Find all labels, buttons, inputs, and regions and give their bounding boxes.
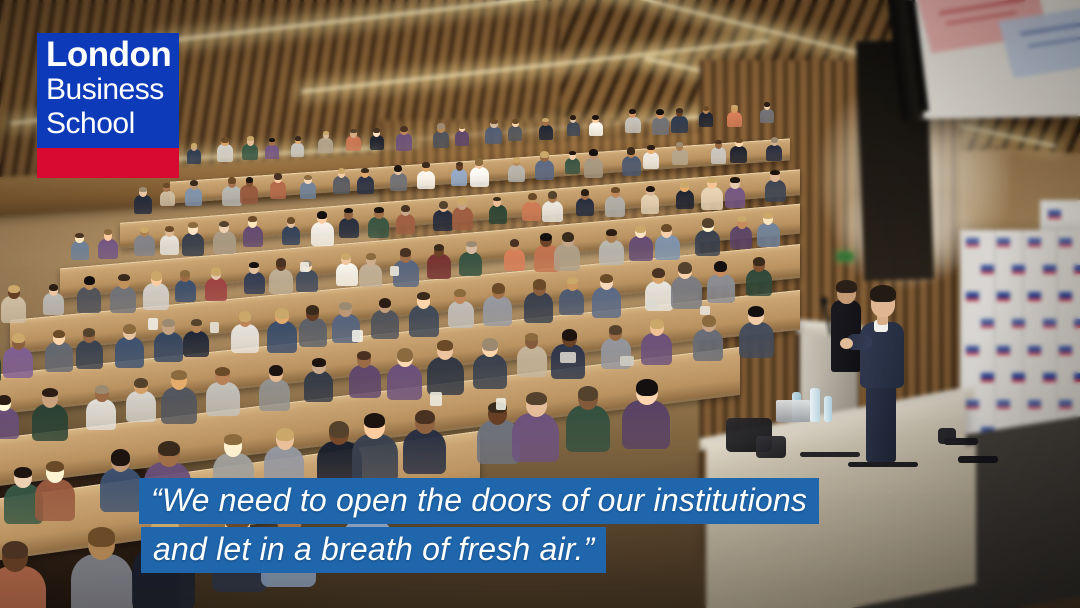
av-equipment bbox=[756, 436, 786, 458]
water-bottle bbox=[824, 396, 832, 422]
logo-blue-panel: London Business School bbox=[37, 33, 179, 148]
logo-line-business: Business bbox=[46, 73, 164, 107]
tripod-leg bbox=[958, 456, 998, 463]
desk-item bbox=[300, 262, 309, 272]
cable bbox=[800, 452, 860, 457]
desk-item bbox=[390, 266, 399, 276]
desk-item bbox=[646, 300, 658, 310]
london-business-school-logo: London Business School bbox=[37, 33, 179, 178]
logo-red-bar bbox=[37, 148, 179, 178]
water-bottle bbox=[810, 388, 820, 422]
logo-line-school: School bbox=[46, 107, 135, 141]
quote-row-2: and let in a breath of fresh air.” bbox=[0, 527, 1080, 573]
desk-item bbox=[148, 318, 158, 330]
desk-item bbox=[620, 356, 634, 366]
desk-item bbox=[352, 330, 363, 342]
desk-item bbox=[210, 322, 219, 333]
cable bbox=[848, 462, 918, 467]
video-frame: London Business School “We need to open … bbox=[0, 0, 1080, 608]
laptop bbox=[776, 400, 810, 422]
quote-line-2: and let in a breath of fresh air.” bbox=[141, 527, 606, 573]
desk-item bbox=[430, 392, 442, 406]
desk-item bbox=[560, 352, 576, 363]
quote-row-1: “We need to open the doors of our instit… bbox=[0, 478, 1080, 524]
tripod-head bbox=[938, 428, 956, 444]
quote-line-1: “We need to open the doors of our instit… bbox=[139, 478, 819, 524]
desk-item bbox=[700, 306, 710, 315]
desk-item bbox=[496, 398, 506, 410]
logo-line-london: London bbox=[46, 36, 171, 74]
quote-overlay: “We need to open the doors of our instit… bbox=[0, 478, 1080, 573]
